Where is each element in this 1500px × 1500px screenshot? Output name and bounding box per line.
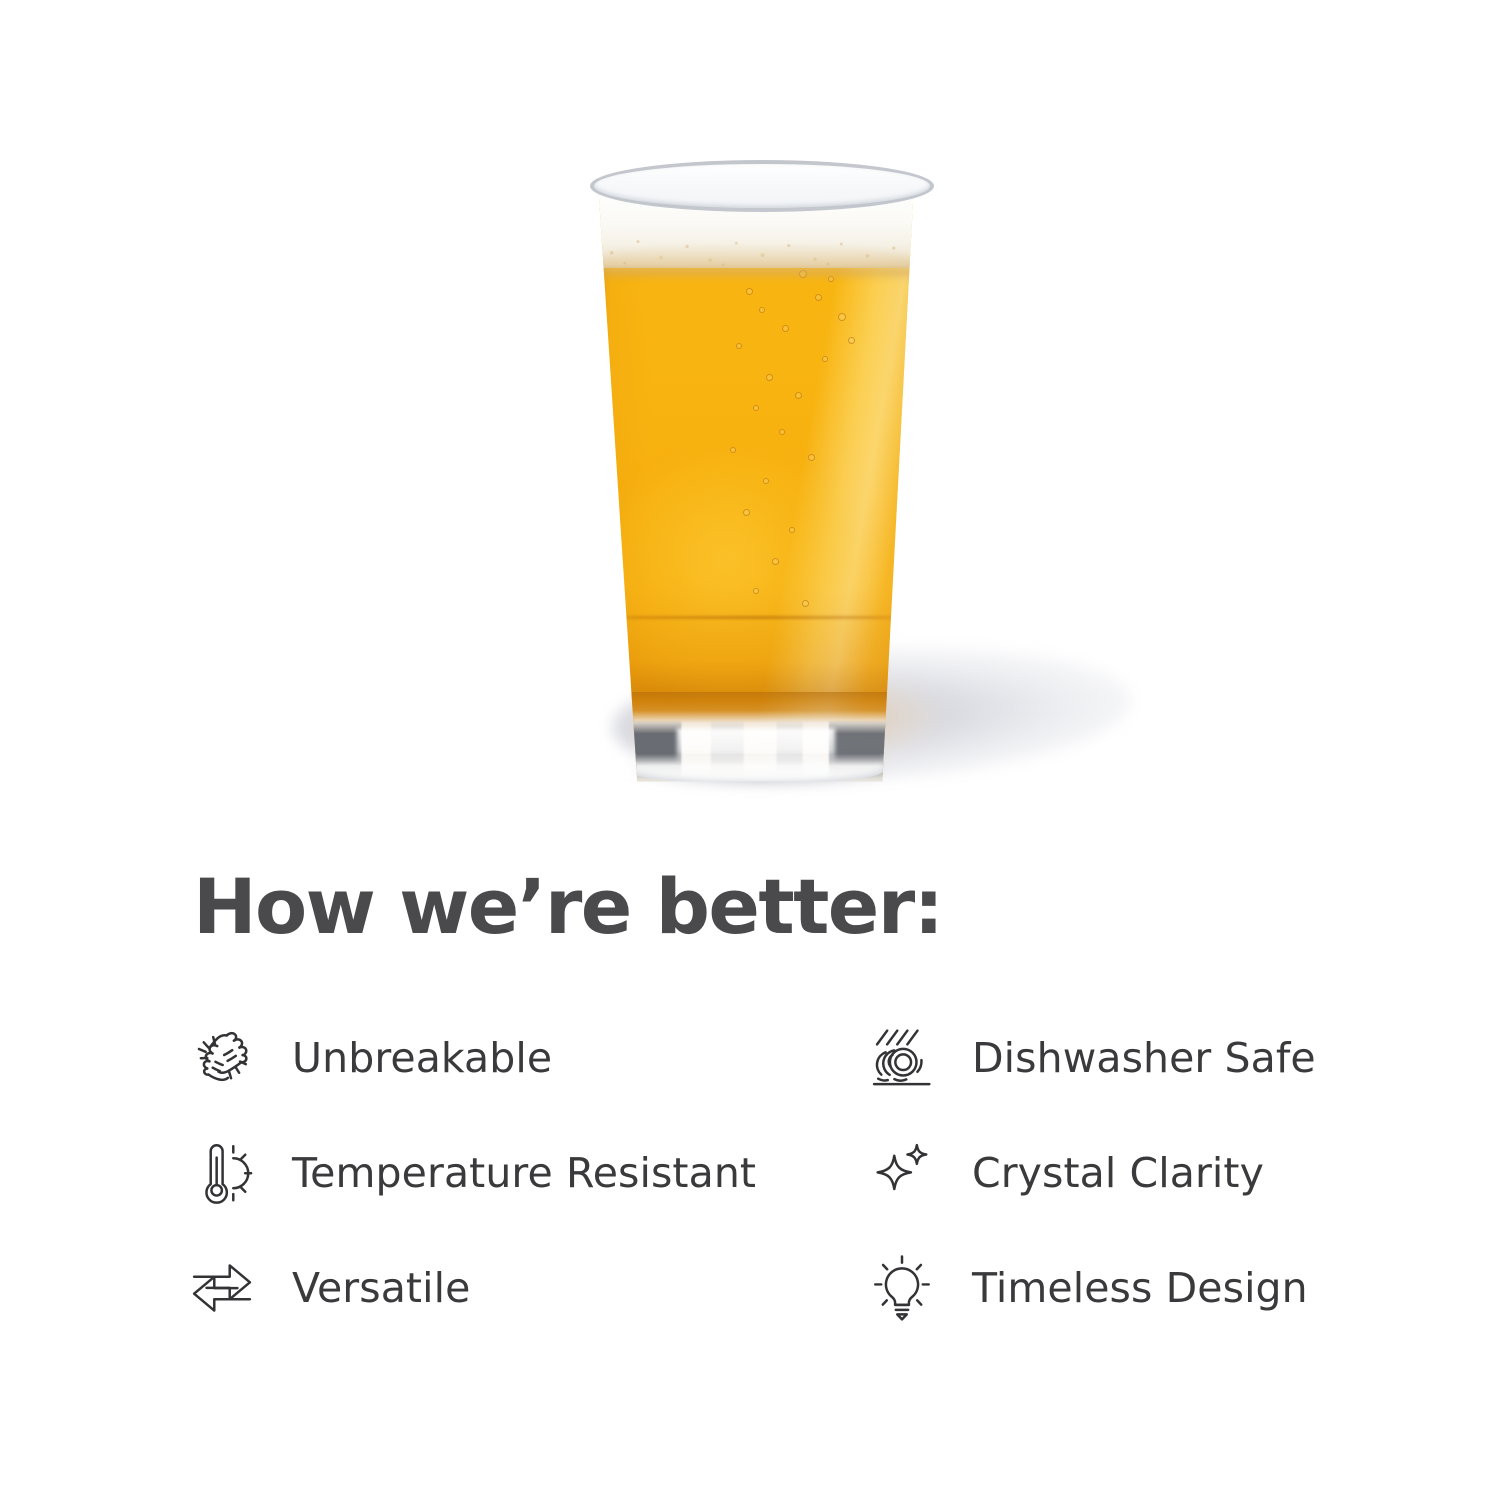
sparkle-star-icon: [860, 1131, 944, 1215]
glass-rim: [590, 160, 934, 212]
fist-impact-icon: [180, 1016, 264, 1100]
thermometer-sun-icon: [180, 1131, 264, 1215]
lightbulb-icon: [860, 1246, 944, 1330]
feature-item-dishwasher-safe: Dishwasher Safe: [856, 1000, 1350, 1115]
feature-item-versatile: Versatile: [180, 1230, 856, 1345]
dishes-water-spray-icon: [860, 1016, 944, 1100]
glass-wall-left: [592, 172, 603, 784]
beer-glass: [592, 172, 920, 784]
feature-label: Dishwasher Safe: [972, 1034, 1316, 1082]
two-way-arrows-icon: [180, 1246, 264, 1330]
feature-item-timeless-design: Timeless Design: [856, 1230, 1350, 1345]
feature-list: Unbreakable Dishwasher Safe: [180, 1000, 1350, 1345]
page-title: How we’re better:: [193, 862, 942, 951]
feature-item-crystal-clarity: Crystal Clarity: [856, 1115, 1350, 1230]
feature-label: Temperature Resistant: [292, 1149, 756, 1197]
product-hero-image: [0, 0, 1500, 830]
foam-liquid-boundary: [579, 244, 933, 290]
feature-item-unbreakable: Unbreakable: [180, 1000, 856, 1115]
feature-label: Versatile: [292, 1264, 470, 1312]
feature-label: Crystal Clarity: [972, 1149, 1264, 1197]
feature-label: Timeless Design: [972, 1264, 1308, 1312]
glass-foot: [628, 754, 884, 784]
feature-item-temperature-resistant: Temperature Resistant: [180, 1115, 856, 1230]
feature-label: Unbreakable: [292, 1034, 552, 1082]
